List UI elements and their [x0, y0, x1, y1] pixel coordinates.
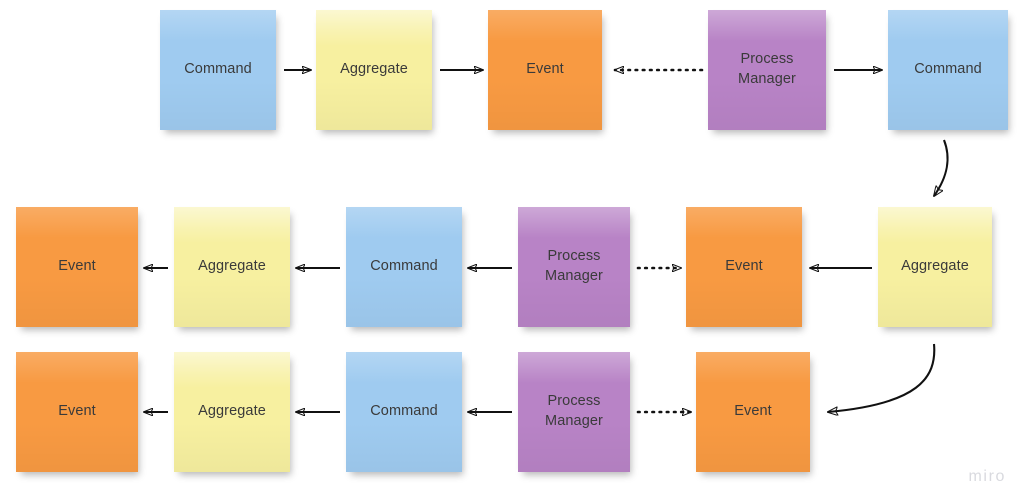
sticky-note-r1-aggregate-1[interactable]: Aggregate — [316, 10, 432, 130]
miro-watermark: miro — [968, 468, 1006, 486]
sticky-note-label: Process Manager — [518, 247, 630, 286]
sticky-note-r1-event-1[interactable]: Event — [488, 10, 602, 130]
sticky-note-r2-aggregate-1[interactable]: Aggregate — [174, 207, 290, 327]
sticky-note-label: Event — [728, 402, 778, 422]
sticky-note-label: Process Manager — [518, 392, 630, 431]
sticky-note-r1-command-1[interactable]: Command — [160, 10, 276, 130]
sticky-note-r3-event-1[interactable]: Event — [16, 352, 138, 472]
sticky-note-label: Command — [364, 402, 444, 422]
sticky-note-label: Event — [52, 257, 102, 277]
sticky-note-label: Event — [520, 60, 570, 80]
sticky-note-label: Command — [364, 257, 444, 277]
sticky-note-r1-command-2[interactable]: Command — [888, 10, 1008, 130]
sticky-note-r2-command-1[interactable]: Command — [346, 207, 462, 327]
sticky-note-label: Aggregate — [334, 60, 414, 80]
sticky-note-r3-process-manager-1[interactable]: Process Manager — [518, 352, 630, 472]
sticky-note-label: Aggregate — [895, 257, 975, 277]
sticky-note-r3-aggregate-1[interactable]: Aggregate — [174, 352, 290, 472]
sticky-note-label: Command — [908, 60, 988, 80]
sticky-note-r2-process-manager-1[interactable]: Process Manager — [518, 207, 630, 327]
diagram-canvas: CommandAggregateEventProcess ManagerComm… — [0, 0, 1024, 498]
sticky-note-r3-event-2[interactable]: Event — [696, 352, 810, 472]
sticky-note-r1-process-manager-1[interactable]: Process Manager — [708, 10, 826, 130]
sticky-note-label: Event — [52, 402, 102, 422]
sticky-note-label: Event — [719, 257, 769, 277]
sticky-note-label: Aggregate — [192, 402, 272, 422]
connector-c11 — [828, 344, 934, 412]
sticky-note-r2-aggregate-2[interactable]: Aggregate — [878, 207, 992, 327]
connector-c5 — [934, 140, 948, 196]
sticky-note-label: Command — [178, 60, 258, 80]
sticky-note-r2-event-2[interactable]: Event — [686, 207, 802, 327]
sticky-note-r3-command-1[interactable]: Command — [346, 352, 462, 472]
sticky-note-label: Process Manager — [708, 50, 826, 89]
sticky-note-r2-event-1[interactable]: Event — [16, 207, 138, 327]
sticky-note-label: Aggregate — [192, 257, 272, 277]
